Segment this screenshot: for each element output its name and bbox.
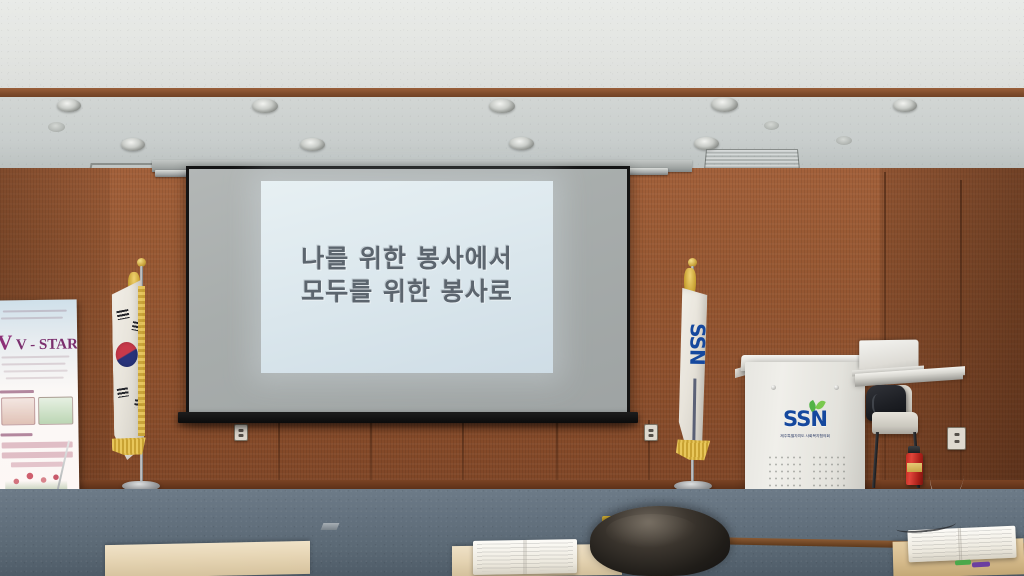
screen-weight-bar xyxy=(178,412,638,423)
banner-text-line xyxy=(1,317,63,320)
banner-headline: V V - STAR xyxy=(0,329,73,355)
marker-pen[interactable] xyxy=(972,562,990,568)
open-book[interactable] xyxy=(473,539,577,575)
banner-section-heading xyxy=(0,390,34,393)
banner-text-line xyxy=(4,370,68,373)
banner-photo-card xyxy=(1,397,35,425)
banner-v-letter: V xyxy=(0,330,13,354)
podium-logo-subtitle: 제주특별자치도 사회복지협의회 xyxy=(745,433,865,438)
projected-slide: 나를 위한 봉사에서 모두를 위한 봉사로 xyxy=(261,181,553,373)
banner-text-line xyxy=(3,310,67,313)
flag-fringe xyxy=(138,286,145,436)
banner-headline-text: V - STAR xyxy=(16,336,78,353)
downlight-icon xyxy=(252,99,278,113)
taeguk-circle-icon xyxy=(116,342,138,367)
extinguisher-label xyxy=(907,463,922,472)
book-spine xyxy=(524,540,527,574)
downlight-icon xyxy=(694,137,719,150)
downlight-icon xyxy=(300,138,325,151)
marker-pen[interactable] xyxy=(955,560,971,566)
attendee-table-left xyxy=(105,541,310,576)
downlight-icon xyxy=(48,122,65,132)
podium-logo-text: SSN xyxy=(783,409,827,430)
downlight-icon xyxy=(121,138,145,151)
book-text-lines xyxy=(911,529,1012,559)
downlight-icon xyxy=(764,121,779,130)
trigram-icon xyxy=(116,309,129,320)
banner-text-line xyxy=(2,452,73,459)
banner-photo-card xyxy=(38,396,73,424)
podium-fastener xyxy=(771,385,776,390)
podium-logo: SSN 제주특별자치도 사회복지협의회 xyxy=(745,409,865,439)
downlight-icon xyxy=(893,99,917,112)
organization-flag-sublabel xyxy=(692,379,696,441)
roll-up-banner: V V - STAR xyxy=(0,299,79,495)
chair-seat[interactable] xyxy=(872,412,918,434)
seminar-room-photo: 나를 위한 봉사에서 모두를 위한 봉사로 V V - STAR xyxy=(0,0,1024,576)
downlight-icon xyxy=(57,99,81,112)
downlight-icon xyxy=(489,99,515,113)
slide-line-1: 나를 위한 봉사에서 xyxy=(261,243,553,276)
trigram-icon xyxy=(117,387,129,398)
attendee-head xyxy=(590,506,730,576)
downlight-icon xyxy=(711,97,738,112)
wall-outlet[interactable] xyxy=(644,424,658,441)
wall-outlet[interactable] xyxy=(234,424,248,441)
downlight-icon xyxy=(509,137,534,150)
banner-text-line xyxy=(2,363,66,366)
downlight-icon xyxy=(836,136,852,145)
ceiling-upper-panel xyxy=(0,0,1024,92)
banner-text-line xyxy=(2,442,73,449)
screen-mount-bracket xyxy=(626,168,668,175)
slide-line-2: 모두를 위한 봉사로 xyxy=(261,276,553,309)
podium-fastener xyxy=(834,385,839,390)
floor-outlet-plate[interactable] xyxy=(321,523,340,530)
banner-text-line xyxy=(6,377,64,380)
banner-text-line xyxy=(1,356,69,359)
organization-flag-label: SSN xyxy=(685,323,707,369)
banner-section-heading xyxy=(0,433,32,436)
fire-extinguisher[interactable] xyxy=(906,453,923,485)
slide-title: 나를 위한 봉사에서 모두를 위한 봉사로 xyxy=(261,243,553,308)
